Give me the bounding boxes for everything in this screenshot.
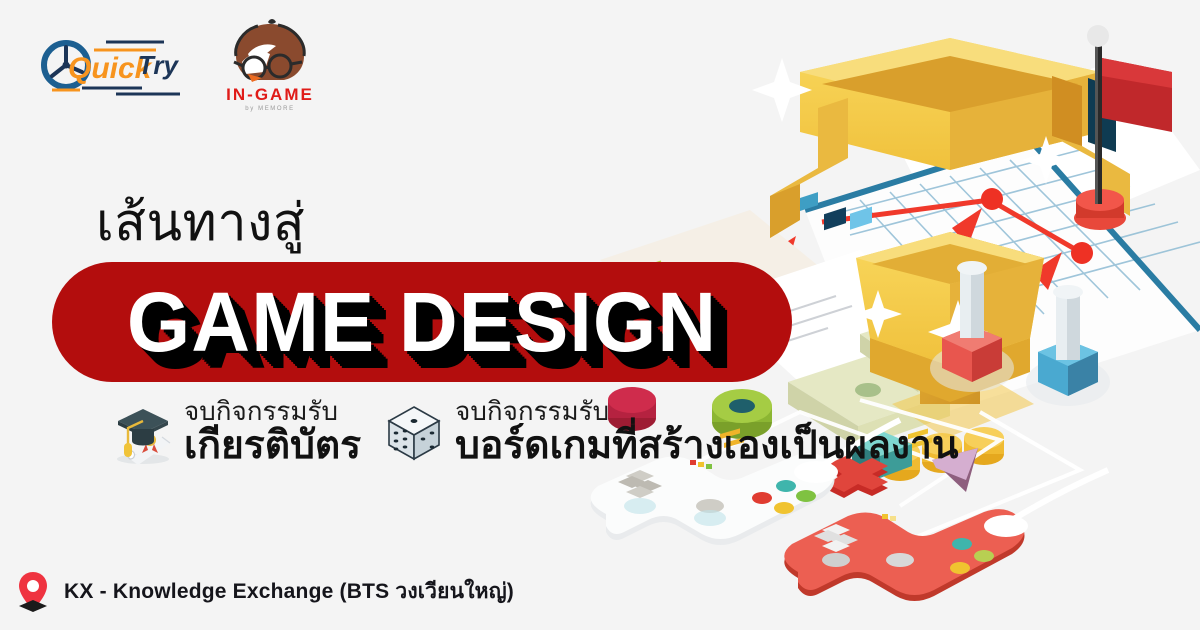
location-pin-icon <box>16 570 50 612</box>
benefit-item-boardgame: จบกิจกรรมรับ บอร์ดเกมที่สร้างเองเป็นผลงา… <box>383 398 958 465</box>
ingame-subtitle: by MEMORE <box>245 106 294 112</box>
logo-row: Quick Try <box>34 16 322 114</box>
benefit-top-line: จบกิจกรรมรับ <box>455 398 958 424</box>
benefit-text-boardgame: จบกิจกรรมรับ บอร์ดเกมที่สร้างเองเป็นผลงา… <box>455 398 958 465</box>
gold-trophy <box>752 38 1130 438</box>
red-flag-on-pole <box>1074 25 1172 230</box>
benefit-item-certificate: จบกิจกรรมรับ เกียรติบัตร <box>112 398 361 465</box>
headline-thai-prefix: เส้นทางสู่ <box>96 196 305 251</box>
boy-with-glasses-avatar-icon <box>234 19 304 82</box>
red-controller-dpad <box>814 524 858 567</box>
red-potion-flask <box>930 261 1014 392</box>
blue-potion-flask <box>1026 285 1110 406</box>
promo-banner: Quick Try <box>0 0 1200 630</box>
page-title: GAME DESIGN <box>63 262 781 382</box>
ingame-wordmark: IN-GAME <box>226 85 314 104</box>
benefit-text-certificate: จบกิจกรรมรับ เกียรติบัตร <box>184 398 361 465</box>
ingame-logo[interactable]: IN-GAME by MEMORE <box>218 16 322 114</box>
dice-icon <box>383 399 445 465</box>
benefit-main-line: เกียรติบัตร <box>184 426 361 465</box>
white-controller-dpad <box>618 470 662 514</box>
venue-footer: KX - Knowledge Exchange (BTS วงเวียนใหญ่… <box>16 570 514 612</box>
quicktry-logo[interactable]: Quick Try <box>34 32 192 98</box>
graduation-cap-diploma-icon <box>112 399 174 465</box>
svg-text:Try: Try <box>138 50 180 80</box>
grid-game-board <box>805 60 1200 430</box>
benefit-top-line: จบกิจกรรมรับ <box>184 398 361 424</box>
graduation-cap <box>118 409 168 457</box>
quicktry-wordmark: Quick Try <box>68 50 180 85</box>
benefit-main-line: บอร์ดเกมที่สร้างเองเป็นผลงาน <box>455 426 958 465</box>
benefits-list: จบกิจกรรมรับ เกียรติบัตร <box>112 398 959 465</box>
venue-name: KX - Knowledge Exchange (BTS วงเวียนใหญ่… <box>64 575 514 608</box>
red-path-arrows <box>774 188 1093 290</box>
